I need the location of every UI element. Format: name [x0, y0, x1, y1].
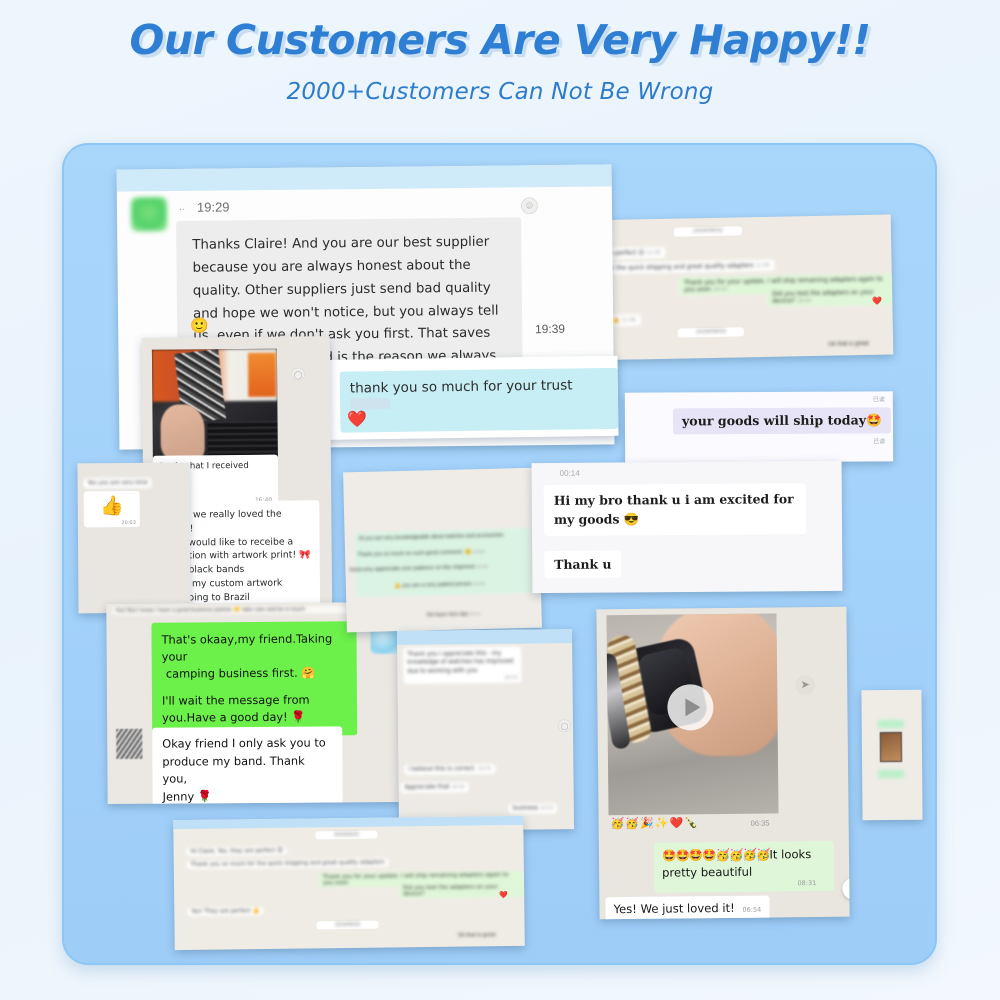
play-icon[interactable]: [667, 684, 713, 730]
bubble-line: That's okaay,my friend.Taking your: [161, 630, 346, 666]
heart-reaction-icon: ❤️: [347, 409, 367, 429]
adapters-chat-card-bottom[interactable]: 2024/06/02 Hi Claire, Yes, they are perf…: [173, 816, 525, 950]
forward-arrow-icon[interactable]: ➤: [795, 675, 815, 695]
page-subtitle: 2000+Customers Can Not Be Wrong: [0, 79, 1000, 105]
read-status: 已读: [873, 394, 885, 403]
chat-message: business 18:56: [509, 803, 557, 814]
thumbs-up-icon: 👍: [84, 491, 140, 521]
bubble-line: produce my band. Thank you,: [162, 752, 332, 789]
thank-u-bubble: Thank u: [544, 550, 621, 578]
circle-button[interactable]: ◯: [558, 719, 571, 732]
card-top-strip: [397, 629, 572, 645]
heart-reaction-icon: ❤️: [872, 297, 882, 306]
page-header: Our Customers Are Very Happy!! 2000+Cust…: [0, 0, 1000, 105]
ship-today-card[interactable]: 已读 your goods will ship today🤩 已读: [625, 391, 893, 462]
chat-timestamp: 19:39: [535, 322, 565, 337]
produce-band-bubble: Okay friend I only ask you to produce my…: [152, 726, 343, 804]
date-divider-top: 2024/06/02: [315, 831, 377, 840]
reaction-emoji-row: 🥳🥳🎉✨❤️🍾: [611, 816, 699, 830]
chat-message: Ok that is great: [458, 932, 496, 938]
smiley-icon[interactable]: ☺: [521, 197, 538, 214]
bubble-line: you.Have a good day! 🌹: [162, 709, 347, 727]
chat-message: Appreciate that 18:56: [401, 782, 469, 793]
loved-it-bubble: Yes! We just loved it! 06:54: [605, 896, 769, 920]
bubble-line: Okay friend I only ask you to: [162, 734, 332, 753]
grin-emoji: 🤩: [866, 412, 882, 427]
chat-message: Thank you so much for the quick shipping…: [187, 859, 389, 869]
chat-message: Ok that is great: [828, 341, 869, 348]
partial-edge-card[interactable]: [861, 690, 922, 821]
chat-message: Hi Claire, Yes, they are perfect 😊: [187, 847, 288, 856]
watch-knowledge-card[interactable]: Thank you I appreciate this - my knowled…: [397, 629, 574, 831]
video-timestamp: 06:35: [751, 819, 770, 828]
avatar: [116, 729, 142, 759]
ship-today-bubble: your goods will ship today🤩: [673, 407, 891, 434]
smiley-icon: 🙂: [190, 317, 209, 335]
page-title: Our Customers Are Very Happy!!: [0, 16, 1000, 64]
camping-green-bubble: That's okaay,my friend.Taking your campi…: [151, 621, 357, 736]
date-divider-bottom: 2024/06/03: [678, 327, 744, 337]
avatar: [131, 197, 167, 231]
trust-message-bubble: thank you so much for your trust: [340, 368, 619, 433]
circle-button[interactable]: ◯: [291, 367, 305, 381]
message-timestamp: 19:29: [197, 199, 230, 214]
celebration-emojis: 🤩🤩🤩🤩🥳🥳🥳🥳: [662, 848, 770, 863]
date-divider-top: 2024/06/02: [674, 226, 742, 236]
card-top-strip: [117, 164, 612, 191]
excited-for-goods-card[interactable]: 00:14 Hi my bro thank u i am excited for…: [532, 461, 843, 593]
chat-message: Yes! They are perfect 👍: [187, 907, 263, 916]
chevron-down-icon[interactable]: ⌄: [842, 878, 849, 900]
watch-video-card[interactable]: 🥳🥳🎉✨❤️🍾 06:35 ➤ 🤩🤩🤩🤩🥳🥳🥳🥳It looks pretty …: [596, 607, 849, 920]
sender-name: ..: [179, 202, 185, 213]
read-status: 已读: [873, 436, 885, 445]
camping-business-card[interactable]: Yes! But I know I have a good business p…: [106, 602, 402, 804]
received-photo: [152, 349, 278, 458]
thank-you-trust-card[interactable]: thank you so much for your trust ❤️: [299, 356, 618, 440]
heart-reaction-icon: ❤️: [499, 891, 508, 899]
highlight-overlay: [878, 720, 904, 728]
yes-you-are-very-kind-card[interactable]: Yes you are very kind 👍 20:03: [77, 463, 190, 614]
bubble-line: I'll wait the message from: [162, 692, 347, 710]
sunglasses-emoji: 😎: [624, 511, 640, 526]
bubble-line: Jenny 🌹: [163, 787, 333, 804]
product-thumbnail: [880, 732, 902, 762]
knowledgeable-chat-card[interactable]: Hi you are very knowledgeable about watc…: [343, 468, 542, 633]
highlight-overlay: [878, 770, 904, 778]
redacted-text: [350, 398, 390, 410]
chat-message: Ok have nice day 20:11: [427, 611, 481, 618]
chat-message: Yes you are very kind: [84, 478, 152, 488]
chat-message: Thank you I appreciate this - my knowled…: [403, 647, 521, 684]
chat-message: I believe this is correct. 18:55: [404, 764, 495, 775]
date-divider-bottom: 2024/06/03: [316, 921, 378, 930]
bubble-line: camping business first. 🤗: [162, 665, 347, 683]
excited-message-bubble: Hi my bro thank u i am excited for my go…: [544, 483, 806, 536]
watch-video[interactable]: [606, 613, 778, 815]
message-timestamp: 00:14: [560, 469, 580, 478]
thumbs-up-bubble: 👍 20:03: [84, 491, 140, 527]
pretty-beautiful-bubble: 🤩🤩🤩🤩🥳🥳🥳🥳It looks pretty beautiful 08:31: [654, 841, 835, 892]
